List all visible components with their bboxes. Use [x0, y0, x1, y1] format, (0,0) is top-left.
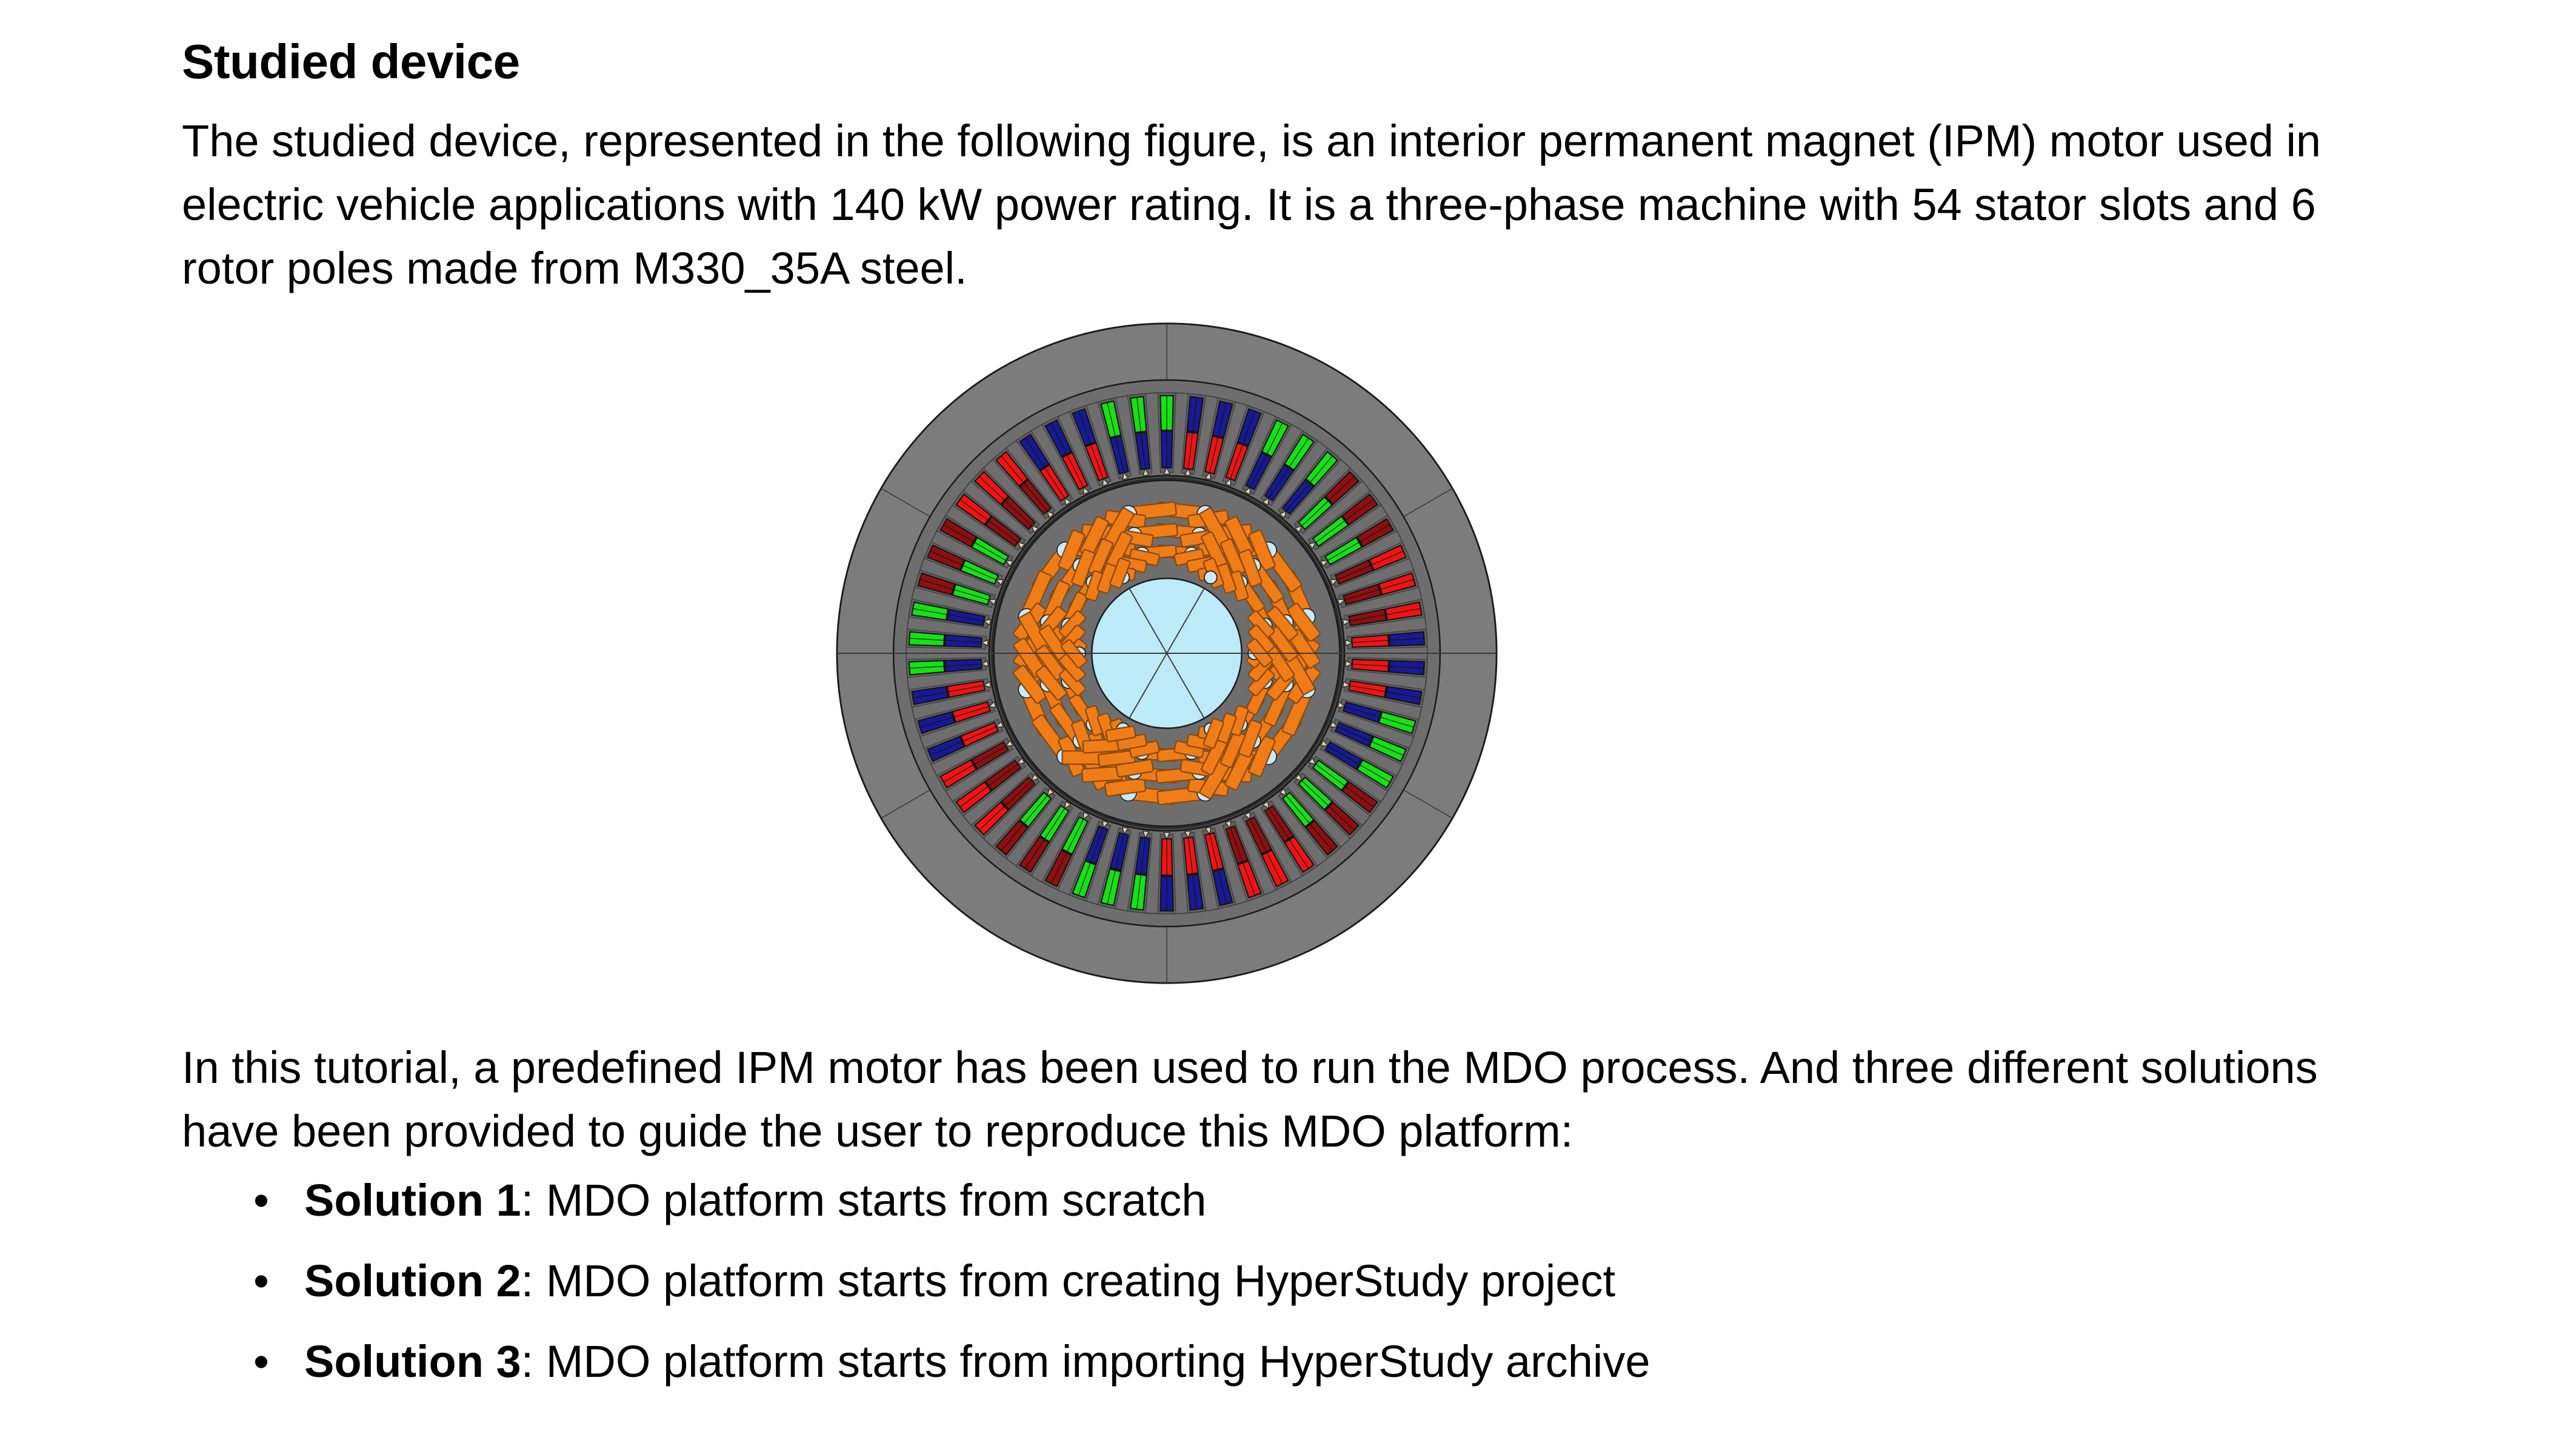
- solution-separator: :: [521, 1336, 546, 1387]
- list-item: • Solution 1: MDO platform starts from s…: [253, 1174, 2394, 1228]
- motor-cross-section-figure: Cross-section of an interior permanent m…: [182, 300, 2394, 1027]
- solution-text: MDO platform starts from importing Hyper…: [546, 1336, 1650, 1387]
- list-bullet-icon: •: [253, 1174, 269, 1228]
- solution-separator: :: [521, 1256, 546, 1306]
- solution-text: MDO platform starts from creating HyperS…: [546, 1256, 1615, 1306]
- list-item: • Solution 3: MDO platform starts from i…: [253, 1335, 2394, 1389]
- solution-separator: :: [521, 1175, 546, 1225]
- list-bullet-icon: •: [253, 1254, 269, 1308]
- tutorial-paragraph: In this tutorial, a predefined IPM motor…: [182, 1027, 2364, 1163]
- solution-list: • Solution 1: MDO platform starts from s…: [182, 1163, 2394, 1388]
- solution-label: Solution 1: [304, 1175, 521, 1225]
- solution-label: Solution 2: [304, 1256, 521, 1306]
- page-title: Studied device: [182, 0, 2394, 88]
- motor-cross-section-image: [835, 305, 1498, 1002]
- rotor-bore-hole: [1204, 571, 1217, 584]
- intro-paragraph: The studied device, represented in the f…: [182, 88, 2394, 300]
- figure-alt-text: Cross-section of an interior permanent m…: [182, 300, 182, 301]
- solution-text: MDO platform starts from scratch: [546, 1175, 1207, 1225]
- solution-label: Solution 3: [304, 1336, 521, 1387]
- list-item: • Solution 2: MDO platform starts from c…: [253, 1254, 2394, 1308]
- document-page: Studied device The studied device, repre…: [0, 0, 2576, 1449]
- list-bullet-icon: •: [253, 1335, 269, 1389]
